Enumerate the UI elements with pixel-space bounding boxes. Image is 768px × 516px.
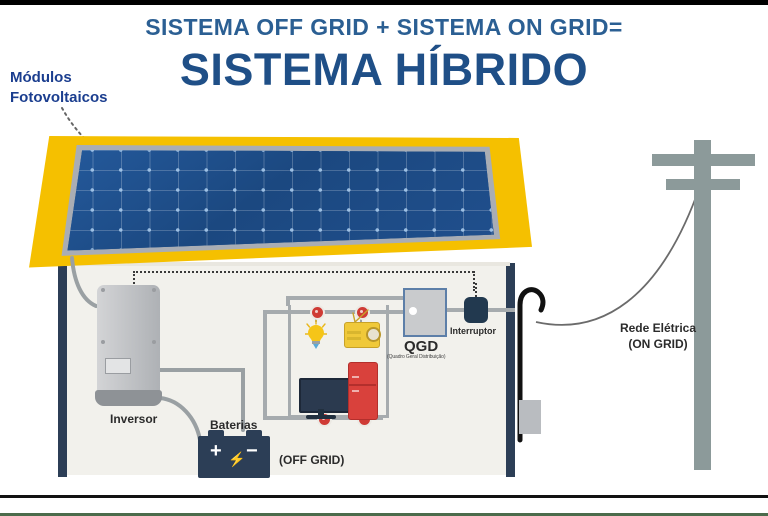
- utility-pole-icon: [694, 140, 711, 470]
- breaker-panel-indicator: [409, 307, 417, 315]
- grid-label-line-2: (ON GRID): [598, 336, 718, 352]
- batteries-label: Baterias: [210, 418, 257, 432]
- callout-line-1: Módulos: [10, 68, 160, 88]
- interruptor-label: Interruptor: [450, 326, 496, 336]
- off-grid-label: (OFF GRID): [279, 453, 344, 467]
- inverter-screw-tl: [101, 288, 105, 292]
- refrigerator-handle-top: [352, 376, 359, 378]
- radio-dial-top: [347, 331, 361, 334]
- electricity-meter-icon: [519, 400, 541, 434]
- television-base: [306, 415, 336, 419]
- lightbulb-icon: [305, 320, 327, 350]
- qgd-sublabel: (Quadro Geral Distribuição): [387, 354, 445, 360]
- inverter-base: [95, 390, 162, 406]
- inverter-display: [105, 358, 131, 374]
- refrigerator-divider: [348, 384, 376, 386]
- solar-panel-icon: [64, 150, 496, 252]
- conduit-ceiling-run: [133, 271, 474, 273]
- radio-antenna-icon: [352, 309, 370, 323]
- inverter-icon: [97, 285, 160, 400]
- inverter-screw-br: [152, 340, 156, 344]
- switch-conduit-drop: [475, 283, 477, 297]
- qgd-label: QGD: [404, 338, 438, 355]
- refrigerator-handle-bottom: [352, 390, 359, 392]
- grid-label: Rede Elétrica (ON GRID): [598, 320, 718, 352]
- switch-icon: [464, 297, 488, 323]
- grid-label-line-1: Rede Elétrica: [598, 320, 718, 336]
- diagram-canvas: SISTEMA OFF GRID + SISTEMA ON GRID= SIST…: [0, 0, 768, 516]
- callout-line-2: Fotovoltaicos: [10, 88, 160, 108]
- inverter-screw-bl: [101, 340, 105, 344]
- house-wall-right: [506, 263, 515, 477]
- radio-dial-bottom: [347, 337, 361, 340]
- radio-speaker: [366, 327, 381, 342]
- television-icon: [299, 378, 351, 413]
- lightning-bolt-icon: ⚡: [228, 452, 245, 466]
- solar-modules-callout: Módulos Fotovoltaicos: [10, 68, 160, 109]
- top-border-bar: [0, 0, 768, 5]
- diagram-subtitle: SISTEMA OFF GRID + SISTEMA ON GRID=: [0, 14, 768, 41]
- battery-plus-symbol: +: [210, 441, 222, 461]
- battery-minus-symbol: −: [246, 441, 258, 461]
- inverter-label: Inversor: [110, 412, 157, 426]
- bottom-divider-black: [0, 495, 768, 498]
- outlet-node-bulb: [310, 305, 325, 320]
- house-wall-left: [58, 263, 67, 477]
- inverter-screw-tr: [152, 288, 156, 292]
